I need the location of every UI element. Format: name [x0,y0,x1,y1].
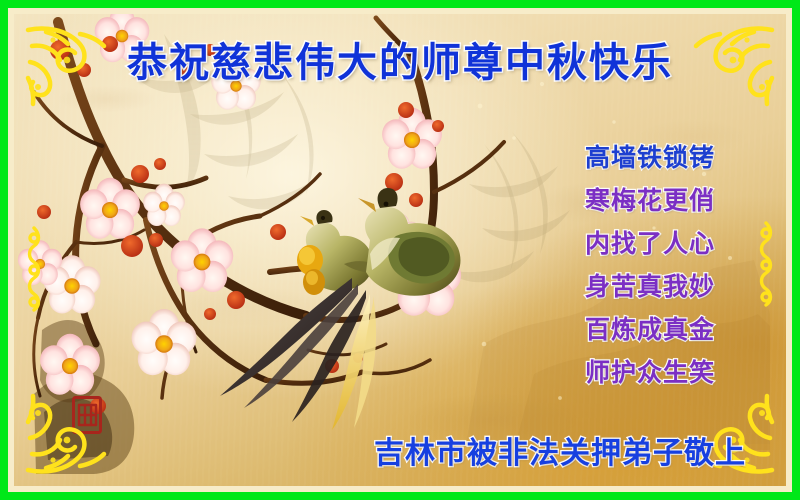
poem-line-3: 内找了人心 [562,222,738,265]
poem-line-5: 百炼成真金 [562,308,738,351]
greeting-card: 恭祝慈悲伟大的师尊中秋快乐 高墙铁锁铐 寒梅花更俏 内找了人心 身苦真我妙 百炼… [0,0,800,500]
artist-seal [72,396,102,434]
poem-line-4: 身苦真我妙 [562,265,738,308]
poem-line-6: 师护众生笑 [562,351,738,394]
greeting-title: 恭祝慈悲伟大的师尊中秋快乐 [0,30,800,88]
seal-icon [72,396,102,434]
poem-line-1: 高墙铁锁铐 [562,136,738,179]
signature-line: 吉林市被非法关押弟子敬上 [374,428,746,472]
poem-line-2: 寒梅花更俏 [562,179,738,222]
poem-block: 高墙铁锁铐 寒梅花更俏 内找了人心 身苦真我妙 百炼成真金 师护众生笑 [562,136,738,394]
